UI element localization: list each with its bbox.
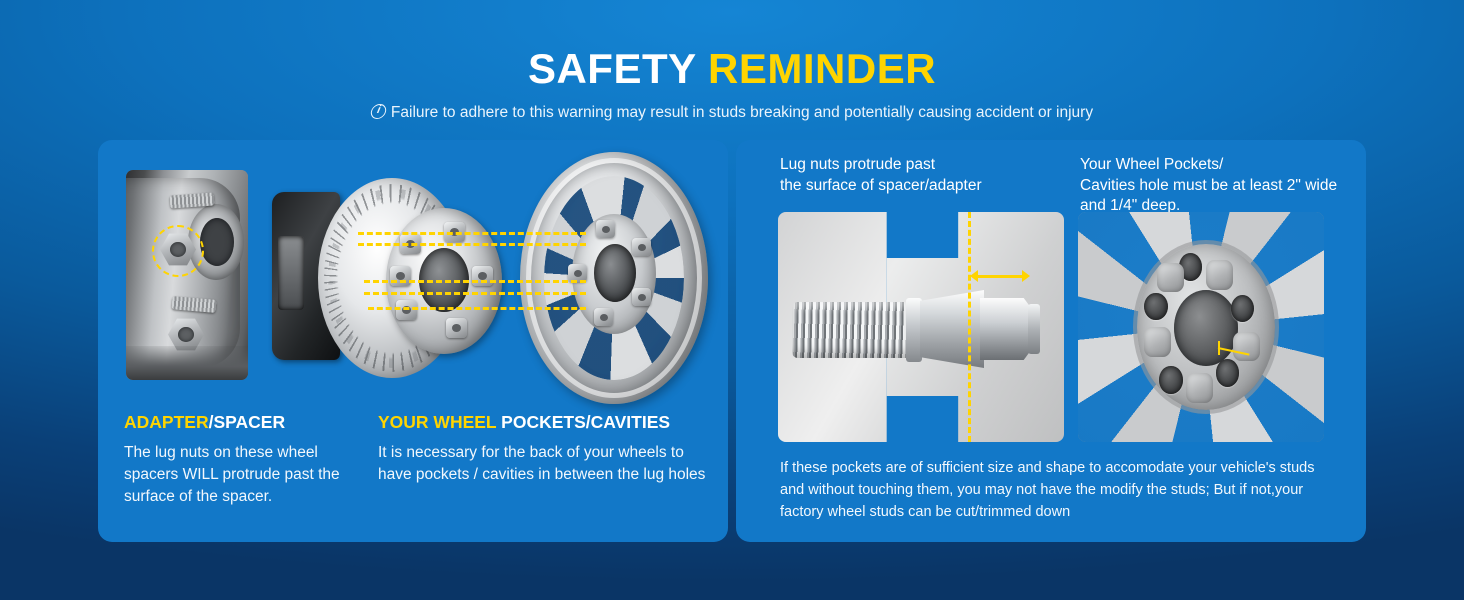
caption-adapter-spacer: ADAPTER/SPACER The lug nuts on these whe… [124,412,374,508]
lug-nut [390,266,411,286]
wheel-pocket-cavity [1206,260,1233,290]
wheel-pocket-cavity [1157,263,1184,293]
caption-adapter-heading-white: /SPACER [209,412,286,432]
lug-hole [1231,295,1254,323]
bolt-hex-head [980,298,1032,360]
wheel-pockets-photo [1078,212,1324,442]
left-panel: ADAPTER/SPACER The lug nuts on these whe… [98,140,728,542]
bolt-collar [906,298,922,362]
bolt-cone-seat [920,290,984,368]
yellow-dashed-surface-line [968,212,971,442]
wheel [520,152,708,404]
alignment-dashed-line [358,243,586,246]
lug-bolt [792,290,1042,368]
caption-adapter-body: The lug nuts on these wheel spacers WILL… [124,442,374,508]
right-panel: Lug nuts protrude past the surface of sp… [736,140,1366,542]
arrow-head-right-icon [1022,270,1030,282]
alignment-dashed-line [368,307,586,310]
bolt-threads [792,302,910,358]
caption-adapter-heading-yellow: ADAPTER [124,412,209,432]
wheel-pocket-cavity [1144,327,1171,357]
wheel-lug-hole [596,220,615,238]
warning-subtitle-text: Failure to adhere to this warning may re… [391,104,1093,121]
lug-hole [1216,359,1239,387]
spacer-photo-foreground [126,346,248,380]
lug-nut [396,300,417,320]
measurement-line [1218,347,1250,356]
caption-wheel-body: It is necessary for the back of your whe… [378,442,708,486]
exploded-assembly-diagram [258,150,708,410]
caption-wheel-heading-white: POCKETS/CAVITIES [501,412,670,432]
alignment-dashed-line [364,292,586,295]
lug-nut [472,266,493,286]
yellow-dashed-highlight-circle [152,225,204,277]
caption-your-wheel: YOUR WHEEL POCKETS/CAVITIES It is necess… [378,412,708,486]
page-title-white: SAFETY [528,45,696,92]
page-title: SAFETY REMINDER [0,48,1464,90]
caption-wheel-heading-yellow: YOUR WHEEL [378,412,496,432]
caption-wheel-heading: YOUR WHEEL POCKETS/CAVITIES [378,412,708,433]
bottom-note-text: If these pockets are of sufficient size … [780,458,1340,523]
infographic-root: SAFETY REMINDER Failure to adhere to thi… [0,0,1464,600]
wheel-pocket-cavity [1186,373,1213,403]
arrow-shaft [976,275,1024,278]
alignment-dashed-line [364,280,586,283]
wheel-center-bore [594,244,636,302]
heading-wheel-pocket-dimensions: Your Wheel Pockets/ Cavities hole must b… [1080,155,1350,217]
lug-bolt-cross-section-image [778,212,1064,442]
lug-nut [446,318,467,338]
wheel-spacer-photo [126,170,248,380]
heading-lug-nuts-protrude: Lug nuts protrude past the surface of sp… [780,155,1050,196]
info-circle-icon [369,104,387,119]
caption-adapter-heading: ADAPTER/SPACER [124,412,374,433]
lug-hole [1144,293,1167,321]
bolt-washer [1028,304,1040,354]
wheel-lug-hole [632,288,651,306]
wheel-lug-hole [632,238,651,256]
protrusion-measurement-arrow [970,270,1030,282]
alignment-dashed-line [358,232,586,235]
page-title-yellow: REMINDER [708,45,936,92]
pocket-measurement-marker [1218,341,1252,355]
lug-hole [1159,366,1182,394]
wheel-lug-hole [594,308,613,326]
warning-subtitle: Failure to adhere to this warning may re… [0,102,1464,123]
